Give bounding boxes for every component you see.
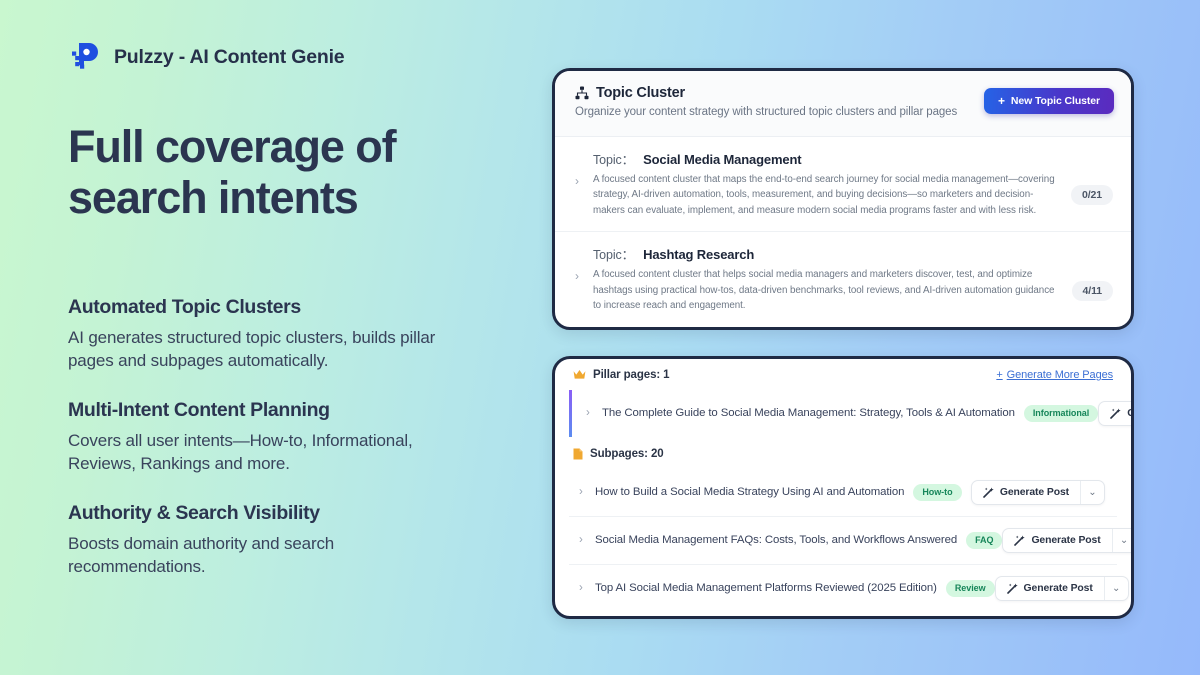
topic-body: › A focused content cluster that maps th… — [575, 172, 1113, 218]
chevron-right-icon[interactable]: › — [575, 267, 593, 285]
topic-count-badge: 0/21 — [1071, 185, 1113, 205]
pillar-pages-header: Pillar pages: 1 + Generate More Pages — [555, 359, 1131, 390]
topic-count-badge: 4/11 — [1072, 281, 1113, 301]
pillar-pages-label: Pillar pages: 1 — [593, 369, 669, 381]
chevron-down-icon[interactable]: ⌄ — [1080, 481, 1104, 504]
hierarchy-icon — [575, 86, 589, 100]
generate-post-button[interactable]: Generate Post — [1003, 529, 1111, 552]
intent-badge-informational: Informational — [1024, 405, 1098, 422]
subpage-title: Social Media Management FAQs: Costs, Too… — [595, 534, 957, 546]
brand-name: Pulzzy - AI Content Genie — [114, 46, 344, 69]
chevron-down-icon[interactable]: ⌄ — [1112, 529, 1134, 552]
topic-row[interactable]: Topic： Social Media Management › A focus… — [555, 137, 1131, 232]
subpages-header: Subpages: 20 — [555, 437, 1131, 469]
feature-item-authority-search-visibility: Authority & Search Visibility Boosts dom… — [68, 502, 498, 579]
topic-name: Social Media Management — [643, 152, 801, 167]
feature-title: Authority & Search Visibility — [68, 502, 498, 525]
chevron-right-icon[interactable]: › — [575, 172, 593, 190]
feature-item-automated-topic-clusters: Automated Topic Clusters AI generates st… — [68, 296, 498, 373]
generate-post-button[interactable]: Generate Post — [1099, 402, 1134, 425]
generate-post-label: Generate Post — [1024, 583, 1093, 594]
feature-title: Automated Topic Clusters — [68, 296, 498, 319]
generate-post-label: Generate Post — [1000, 487, 1069, 498]
magic-wand-icon — [1007, 583, 1018, 594]
generate-post-label: Generate Post — [1127, 408, 1134, 419]
magic-wand-icon — [1014, 535, 1025, 546]
chevron-right-icon[interactable]: › — [586, 408, 602, 420]
intent-badge-faq: FAQ — [966, 532, 1002, 549]
plus-icon: + — [996, 369, 1002, 381]
left-marketing-panel: Pulzzy - AI Content Genie Full coverage … — [68, 40, 498, 578]
intent-badge-review: Review — [946, 580, 995, 597]
topic-description: A focused content cluster that maps the … — [593, 172, 1071, 218]
generate-post-group: Generate Post ⌄ — [971, 480, 1105, 505]
topic-label-line: Topic： Hashtag Research — [575, 244, 1113, 263]
feature-item-multi-intent-content-planning: Multi-Intent Content Planning Covers all… — [68, 399, 498, 476]
pillar-subpages-card: Pillar pages: 1 + Generate More Pages › … — [552, 356, 1134, 619]
new-topic-cluster-label: New Topic Cluster — [1011, 95, 1100, 107]
topic-cluster-header: Topic Cluster Organize your content stra… — [555, 71, 1131, 137]
pillar-page-row[interactable]: › The Complete Guide to Social Media Man… — [569, 390, 1117, 437]
chevron-down-icon[interactable]: ⌄ — [1104, 577, 1128, 600]
subpage-row[interactable]: › Social Media Management FAQs: Costs, T… — [569, 517, 1117, 565]
new-topic-cluster-button[interactable]: + New Topic Cluster — [984, 88, 1114, 114]
feature-description: Boosts domain authority and search recom… — [68, 532, 463, 579]
subpages-label: Subpages: 20 — [590, 448, 664, 460]
generate-post-group: Generate Post ⌄ — [1098, 401, 1134, 426]
generate-more-pages-label: Generate More Pages — [1007, 369, 1113, 381]
chevron-right-icon[interactable]: › — [579, 535, 595, 547]
topic-cluster-title: Topic Cluster — [596, 85, 685, 101]
topic-label: Topic： — [593, 244, 634, 263]
page-title: Full coverage of search intents — [68, 122, 468, 224]
generate-post-group: Generate Post ⌄ — [1002, 528, 1134, 553]
feature-description: AI generates structured topic clusters, … — [68, 326, 463, 373]
subpage-row[interactable]: › How to Build a Social Media Strategy U… — [569, 469, 1117, 517]
plus-icon: + — [998, 95, 1005, 107]
chevron-right-icon[interactable]: › — [579, 583, 595, 595]
feature-description: Covers all user intents—How-to, Informat… — [68, 429, 463, 476]
topic-row[interactable]: Topic： Hashtag Research › A focused cont… — [555, 232, 1131, 326]
generate-more-pages-link[interactable]: + Generate More Pages — [996, 369, 1113, 381]
right-screenshot-panel: Topic Cluster Organize your content stra… — [552, 68, 1134, 619]
crown-icon — [573, 369, 586, 380]
topic-label-line: Topic： Social Media Management — [575, 149, 1113, 168]
pillar-page-title: The Complete Guide to Social Media Manag… — [602, 407, 1015, 419]
generate-post-button[interactable]: Generate Post — [972, 481, 1080, 504]
generate-post-label: Generate Post — [1031, 535, 1100, 546]
topic-label: Topic： — [593, 149, 634, 168]
feature-title: Multi-Intent Content Planning — [68, 399, 498, 422]
topic-description: A focused content cluster that helps soc… — [593, 267, 1072, 313]
generate-post-group: Generate Post ⌄ — [995, 576, 1129, 601]
subpage-title: Top AI Social Media Management Platforms… — [595, 582, 937, 594]
magic-wand-icon — [1110, 408, 1121, 419]
generate-post-button[interactable]: Generate Post — [996, 577, 1104, 600]
brand-row: Pulzzy - AI Content Genie — [68, 40, 498, 74]
topic-name: Hashtag Research — [643, 247, 754, 262]
pillar-pages-header-left: Pillar pages: 1 — [573, 369, 669, 381]
subpage-title: How to Build a Social Media Strategy Usi… — [595, 486, 904, 498]
pulzzy-logo-icon — [68, 40, 102, 74]
magic-wand-icon — [983, 487, 994, 498]
topic-body: › A focused content cluster that helps s… — [575, 267, 1113, 313]
document-icon — [573, 448, 583, 460]
subpage-row[interactable]: › Top AI Social Media Management Platfor… — [569, 565, 1117, 612]
intent-badge-howto: How-to — [913, 484, 961, 501]
topic-cluster-card: Topic Cluster Organize your content stra… — [552, 68, 1134, 330]
feature-list: Automated Topic Clusters AI generates st… — [68, 296, 498, 579]
chevron-right-icon[interactable]: › — [579, 487, 595, 499]
